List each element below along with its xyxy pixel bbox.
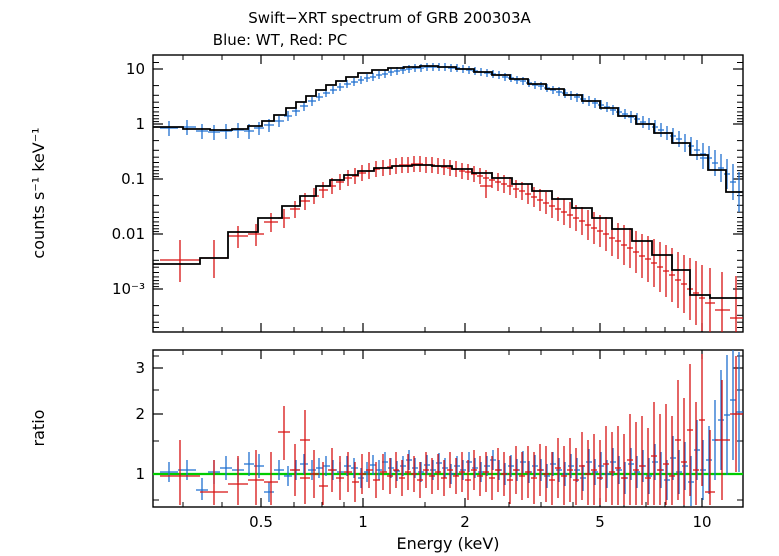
ratio-ytick-3: 3 (135, 359, 145, 377)
ratio-y-tick-labels: 1 2 3 (135, 359, 145, 483)
x-axis-label: Energy (keV) (396, 534, 499, 553)
spectrum-y-axis-label: counts s⁻¹ keV⁻¹ (29, 127, 48, 258)
spectrum-y-tick-labels: 10 1 0.1 0.01 10⁻³ (112, 60, 145, 298)
wt-ratio-errorbars (160, 350, 743, 506)
spectrum-panel-frame (153, 55, 743, 332)
ytick-0.1: 0.1 (121, 170, 145, 188)
spectrum-y-ticks (153, 55, 743, 332)
ytick-0.01: 0.01 (112, 225, 145, 243)
xtick-10: 10 (692, 513, 711, 531)
wt-spectrum-errorbars (160, 63, 743, 212)
ratio-ytick-2: 2 (135, 405, 145, 423)
ratio-ytick-1: 1 (135, 465, 145, 483)
ytick-10: 10 (126, 60, 145, 78)
x-tick-labels: 0.5 1 2 5 10 (249, 513, 711, 531)
ratio-y-axis-label: ratio (29, 410, 48, 447)
xtick-5: 5 (595, 513, 605, 531)
ytick-1e-3: 10⁻³ (112, 280, 145, 298)
pc-spectrum-errorbars (160, 156, 743, 360)
xtick-0.5: 0.5 (249, 513, 273, 531)
xtick-2: 2 (460, 513, 470, 531)
plot-svg: 10 1 0.1 0.01 10⁻³ counts s⁻¹ keV⁻¹ (0, 0, 779, 556)
figure: Swift−XRT spectrum of GRB 200303A Blue: … (0, 0, 779, 556)
ytick-1: 1 (135, 115, 145, 133)
xtick-1: 1 (358, 513, 368, 531)
